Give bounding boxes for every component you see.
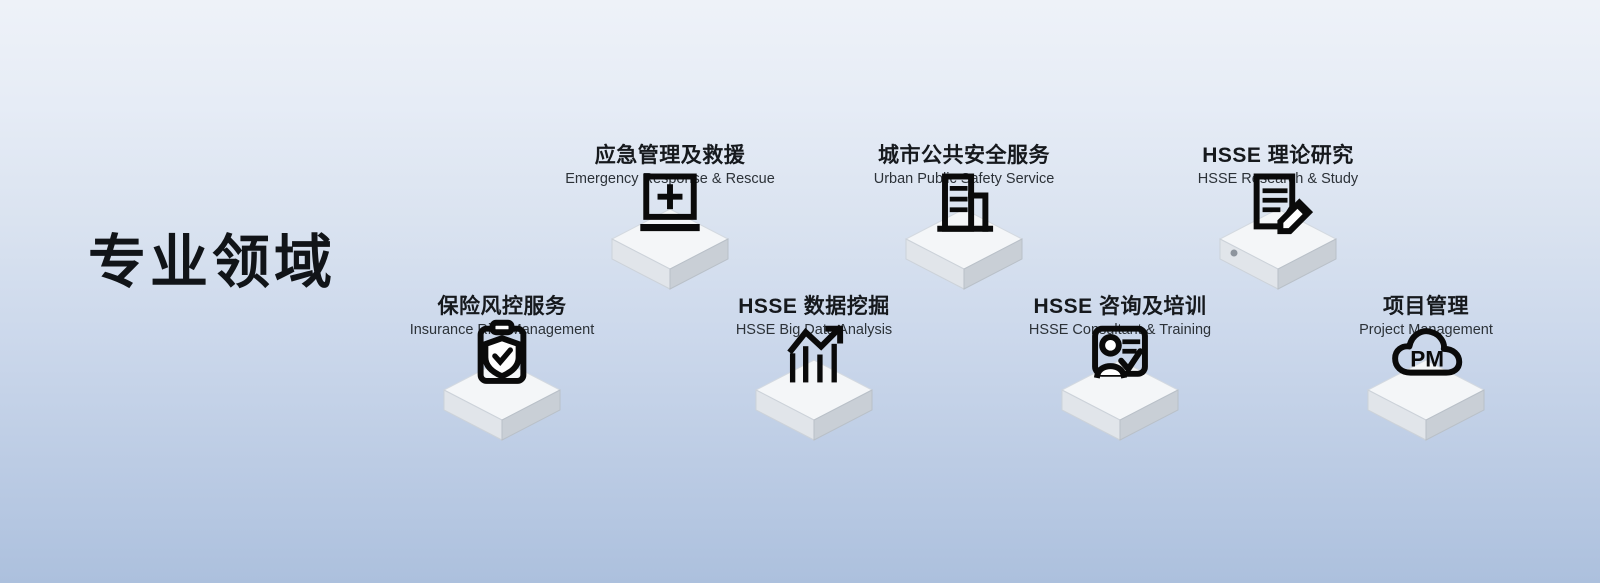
service-card-hsse-big-data-analysis[interactable]: HSSE 数据挖掘 HSSE Big Data Analysis (684, 295, 944, 450)
service-icon-wrap (748, 354, 880, 450)
cloud-icon-text: PM (1410, 347, 1444, 372)
service-label-cn: 应急管理及救援 (540, 144, 800, 168)
service-label-cn: 城市公共安全服务 (834, 144, 1094, 168)
clipboard-shield-check-icon (464, 318, 540, 394)
service-card-urban-public-safety-service[interactable]: 城市公共安全服务 Urban Public Safety Service (834, 144, 1094, 299)
service-label-cn: HSSE 理论研究 (1148, 144, 1408, 168)
service-card-hsse-consultant-training[interactable]: HSSE 咨询及培训 HSSE Consultant & Training (990, 295, 1250, 450)
document-pencil-icon (1240, 167, 1316, 243)
service-card-emergency-response-rescue[interactable]: 应急管理及救援 Emergency Response & Rescue (540, 144, 800, 299)
service-card-project-management[interactable]: 项目管理 Project Management PM (1296, 295, 1556, 450)
service-icon-wrap (1054, 354, 1186, 450)
service-icon-wrap (436, 354, 568, 450)
page-title: 专业领域 (88, 234, 336, 292)
service-card-hsse-research-study[interactable]: HSSE 理论研究 HSSE Research & Study (1148, 144, 1408, 299)
service-card-insurance-risk-management[interactable]: 保险风控服务 Insurance Risk Management (372, 295, 632, 450)
buildings-icon (926, 167, 1002, 243)
service-icon-wrap (1212, 203, 1344, 299)
service-icon-wrap: PM (1360, 354, 1492, 450)
monitor-plus-icon (632, 167, 708, 243)
service-label-cn: 保险风控服务 (372, 295, 632, 319)
service-label-cn: 项目管理 (1296, 295, 1556, 319)
service-icon-wrap (898, 203, 1030, 299)
service-icon-wrap (604, 203, 736, 299)
cloud-pm-icon: PM (1388, 318, 1464, 394)
bar-chart-trend-icon (776, 318, 852, 394)
service-label-cn: HSSE 咨询及培训 (990, 295, 1250, 319)
person-card-check-icon (1082, 318, 1158, 394)
service-label-cn: HSSE 数据挖掘 (684, 295, 944, 319)
